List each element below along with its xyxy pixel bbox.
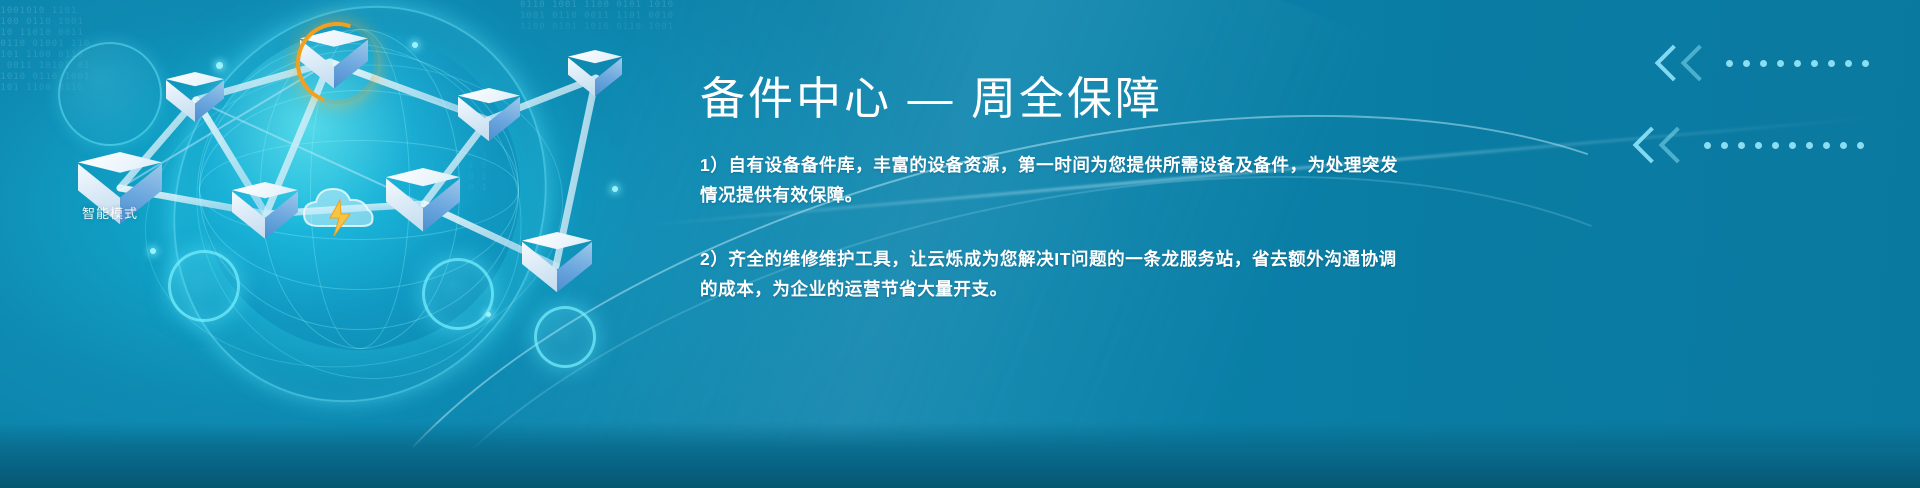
cube-face-right	[195, 80, 224, 122]
trail-dot	[1806, 142, 1813, 149]
cube-face-left	[386, 178, 423, 231]
glow-dot	[612, 186, 618, 192]
trail-dot	[1857, 142, 1864, 149]
trail-dot	[1845, 60, 1852, 67]
bottom-gradient-fade	[0, 422, 1920, 448]
cube-face-right	[265, 191, 298, 239]
trail-dot	[1738, 142, 1745, 149]
trail-dot	[1772, 142, 1779, 149]
dotted-trail-bottom	[1704, 142, 1864, 149]
trail-dot	[1704, 142, 1711, 149]
trail-dot	[1823, 142, 1830, 149]
cube-node-icon	[522, 232, 592, 302]
trail-dot	[1726, 60, 1733, 67]
banner-text-content: 备件中心 — 周全保障 1）自有设备备件库，丰富的设备资源，第一时间为您提供所需…	[700, 74, 1440, 304]
cube-face-left	[568, 58, 595, 97]
trail-dot	[1840, 142, 1847, 149]
glow-dot	[412, 42, 418, 48]
dotted-trail-top	[1726, 60, 1869, 67]
cube-face-left	[522, 242, 557, 292]
graphic-mode-label: 智能模式	[82, 203, 138, 222]
cube-node-icon	[232, 182, 298, 248]
trail-dot	[1760, 60, 1767, 67]
trail-dot	[1794, 60, 1801, 67]
cube-node-icon	[166, 72, 224, 130]
page-title: 备件中心 — 周全保障	[700, 74, 1440, 124]
cube-face-right	[423, 178, 460, 231]
trail-dot	[1743, 60, 1750, 67]
chevron-left-icon	[1681, 45, 1718, 82]
cube-face-right	[595, 58, 622, 97]
banner-paragraph-list: 1）自有设备备件库，丰富的设备资源，第一时间为您提供所需设备及备件，为处理突发情…	[700, 150, 1440, 304]
cube-face-left	[232, 191, 265, 239]
trail-dot	[1755, 142, 1762, 149]
banner-paragraph-2: 2）齐全的维修维护工具，让云烁成为您解决IT问题的一条龙服务站，省去额外沟通协调…	[700, 244, 1412, 304]
glow-dot	[216, 62, 223, 69]
cloud-lightning-icon	[296, 178, 384, 242]
cube-face-left	[458, 97, 489, 142]
trail-dot	[1828, 60, 1835, 67]
cube-face-right	[489, 97, 520, 142]
trail-dot	[1721, 142, 1728, 149]
cube-face-left	[166, 80, 195, 122]
cube-face-right	[557, 242, 592, 292]
bottom-dark-band	[0, 448, 1920, 488]
chevron-left-icon	[1659, 127, 1696, 164]
trail-dot	[1777, 60, 1784, 67]
banner-paragraph-1: 1）自有设备备件库，丰富的设备资源，第一时间为您提供所需设备及备件，为处理突发情…	[700, 150, 1412, 210]
spare-parts-center-banner: 01001010 1101 1100 0110 1001 010 11010 0…	[0, 0, 1920, 488]
cube-node-icon	[386, 168, 460, 242]
trail-dot	[1811, 60, 1818, 67]
cube-node-icon	[458, 88, 520, 150]
cube-node-icon	[568, 50, 622, 104]
cube-node-icon	[78, 152, 162, 236]
trail-dot	[1862, 60, 1869, 67]
glow-dot	[150, 248, 156, 254]
glow-dot	[486, 312, 491, 317]
trail-dot	[1789, 142, 1796, 149]
